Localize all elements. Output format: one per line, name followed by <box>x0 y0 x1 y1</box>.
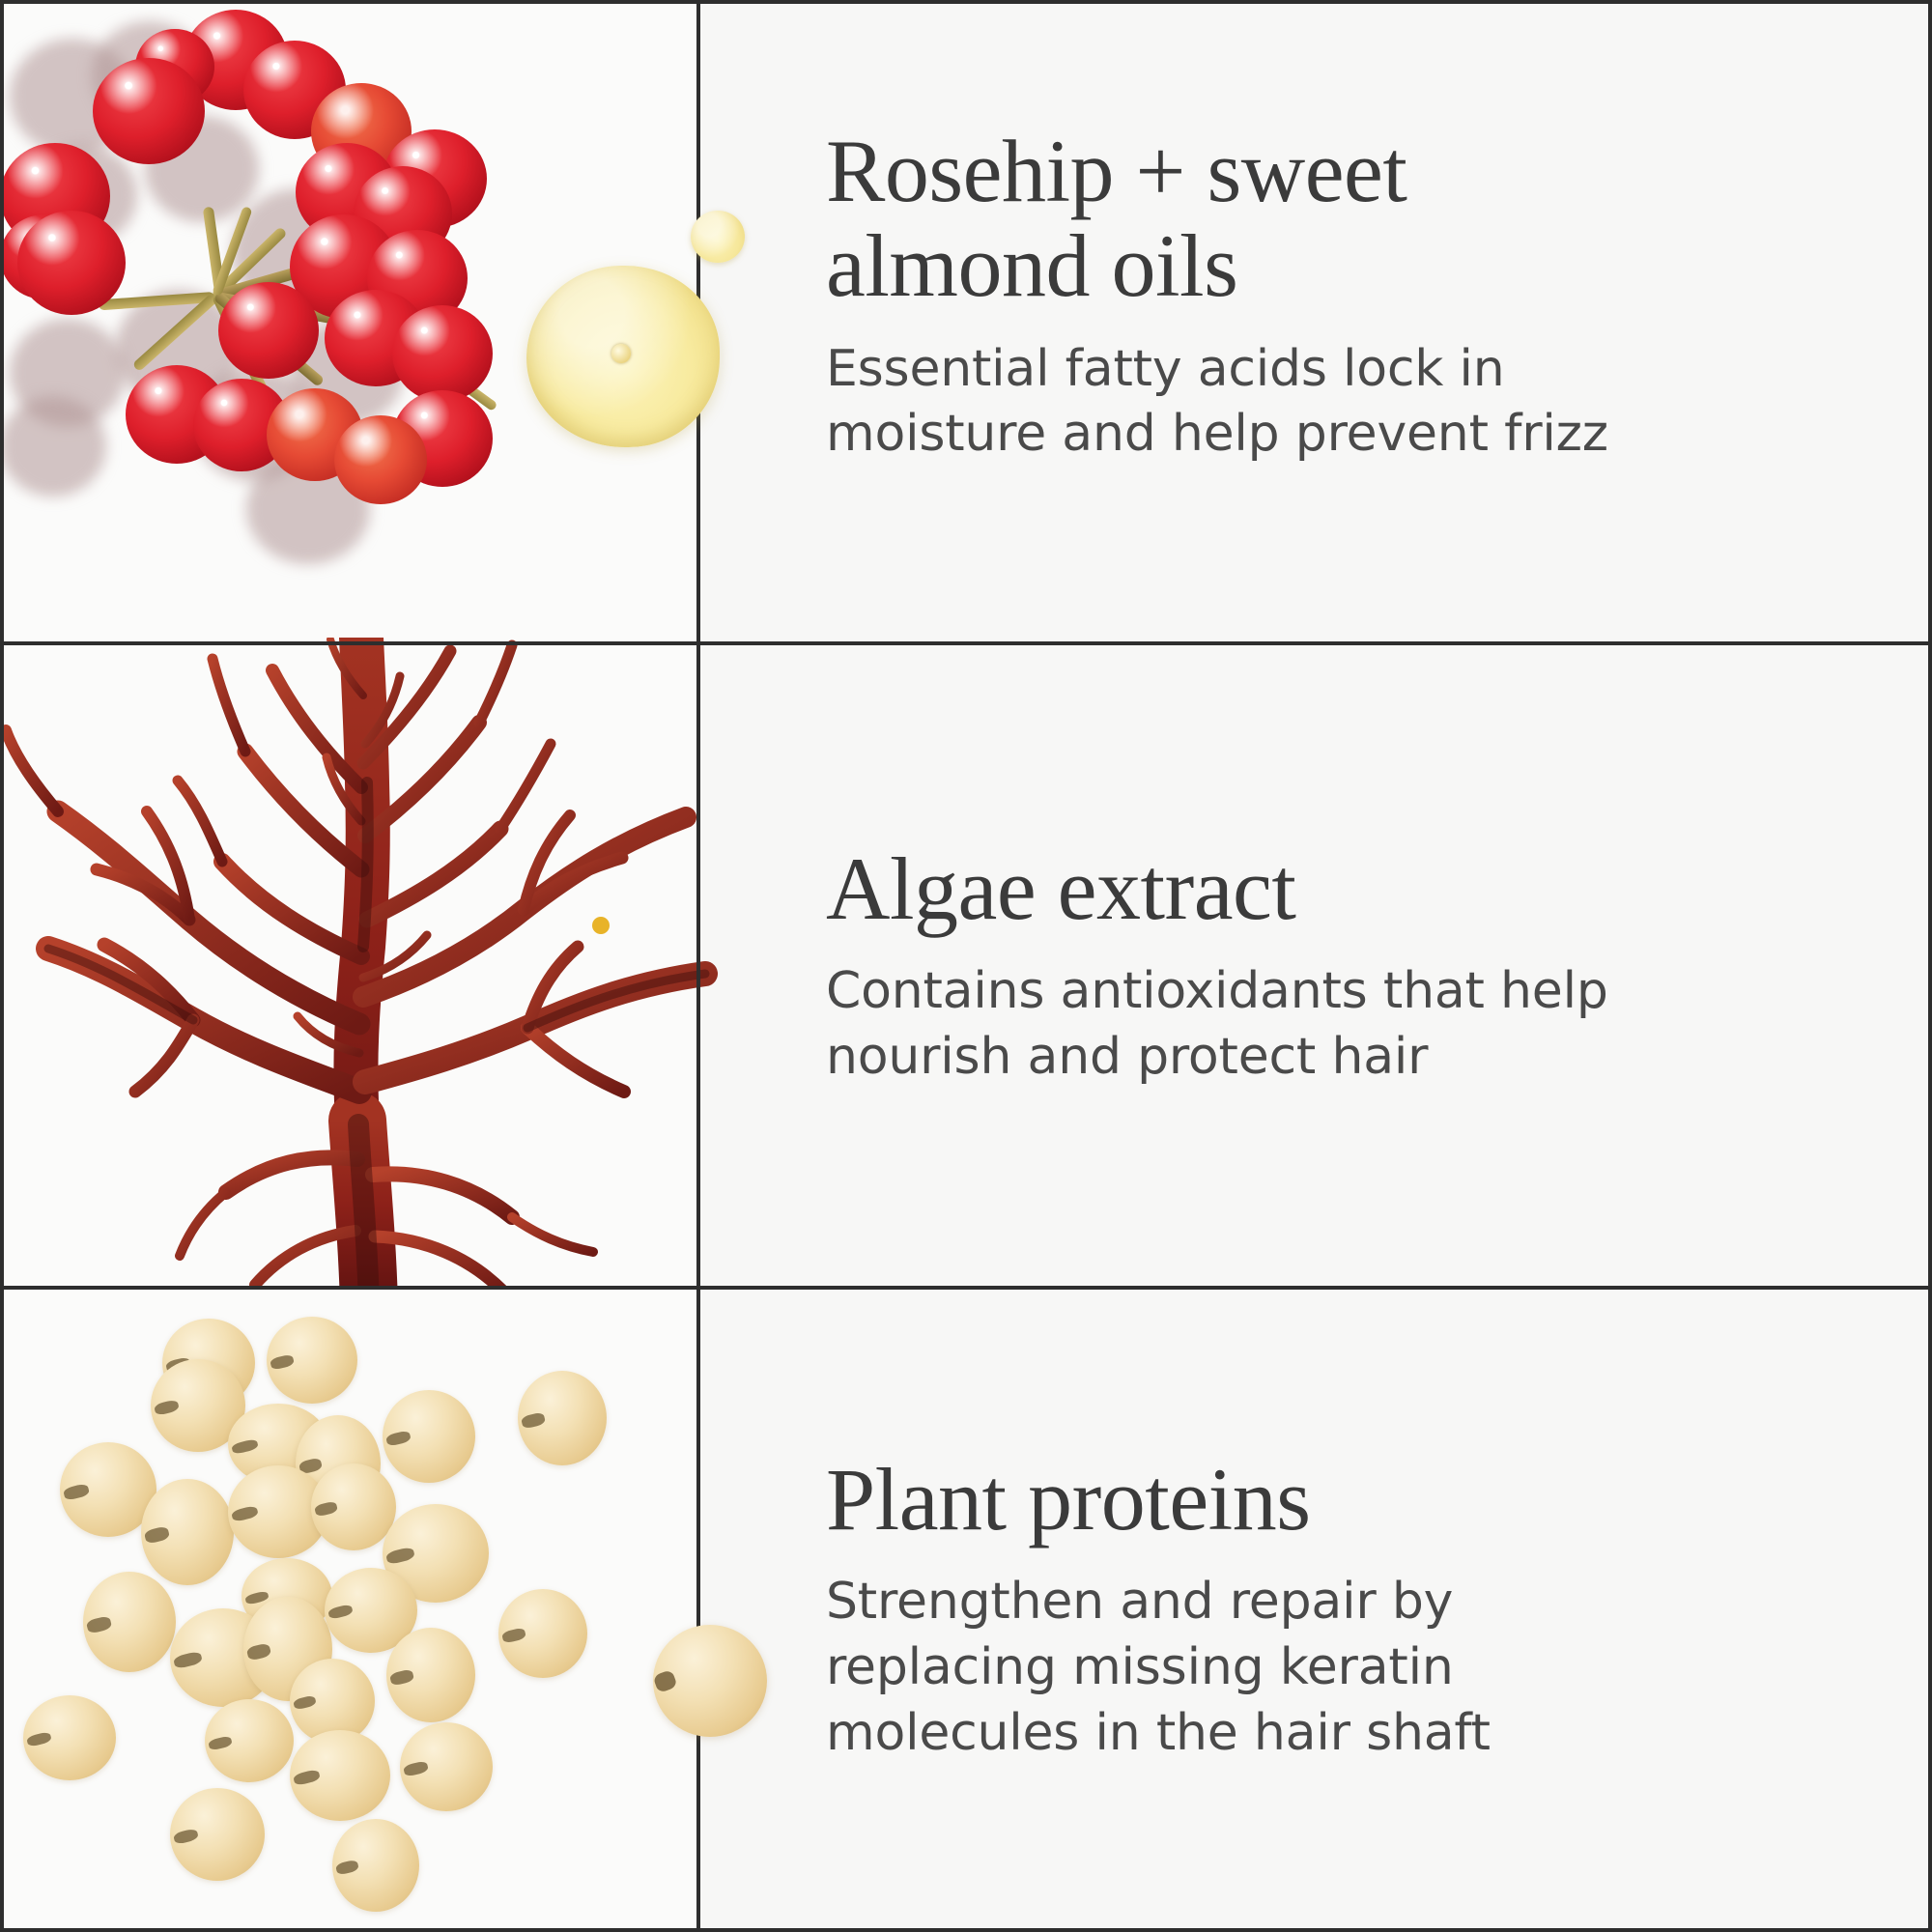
section-title: Plant proteins <box>826 1452 1628 1547</box>
section-description: Strengthen and repair by replacing missi… <box>826 1570 1676 1766</box>
algae-image <box>0 645 696 1286</box>
section-description: Essential fatty acids lock in moisture a… <box>826 337 1676 468</box>
section-title: Rosehip + sweet almond oils <box>826 124 1628 314</box>
section-algae-extract: Algae extract Contains antioxidants that… <box>0 645 1932 1286</box>
frame-top-border <box>0 0 1932 4</box>
soybeans-photo <box>0 1290 696 1928</box>
soybean-overlapping-divider <box>653 1625 767 1737</box>
horizontal-divider-1 <box>0 641 1932 645</box>
algae-text-block: Algae extract Contains antioxidants that… <box>700 645 1932 1286</box>
ingredient-benefits-panel: Rosehip + sweet almond oils Essential fa… <box>0 0 1932 1932</box>
rosehip-text-block: Rosehip + sweet almond oils Essential fa… <box>700 0 1932 641</box>
section-plant-proteins: Plant proteins Strengthen and repair by … <box>0 1290 1932 1928</box>
soybeans-image <box>0 1290 696 1928</box>
section-rosehip-sweet-almond-oils: Rosehip + sweet almond oils Essential fa… <box>0 0 1932 641</box>
plant-proteins-text-block: Plant proteins Strengthen and repair by … <box>700 1290 1932 1928</box>
horizontal-divider-2 <box>0 1286 1932 1290</box>
oil-droplet-large <box>526 266 720 447</box>
oil-droplet-small <box>691 211 745 263</box>
frame-left-border <box>0 0 4 1932</box>
frame-bottom-border <box>0 1928 1932 1932</box>
algae-photo <box>0 645 696 1286</box>
rosehip-berries-image <box>0 0 696 641</box>
frame-right-border <box>1928 0 1932 1932</box>
section-title: Algae extract <box>826 841 1628 936</box>
section-description: Contains antioxidants that help nourish … <box>826 959 1676 1090</box>
algae-illustration <box>0 638 724 1304</box>
